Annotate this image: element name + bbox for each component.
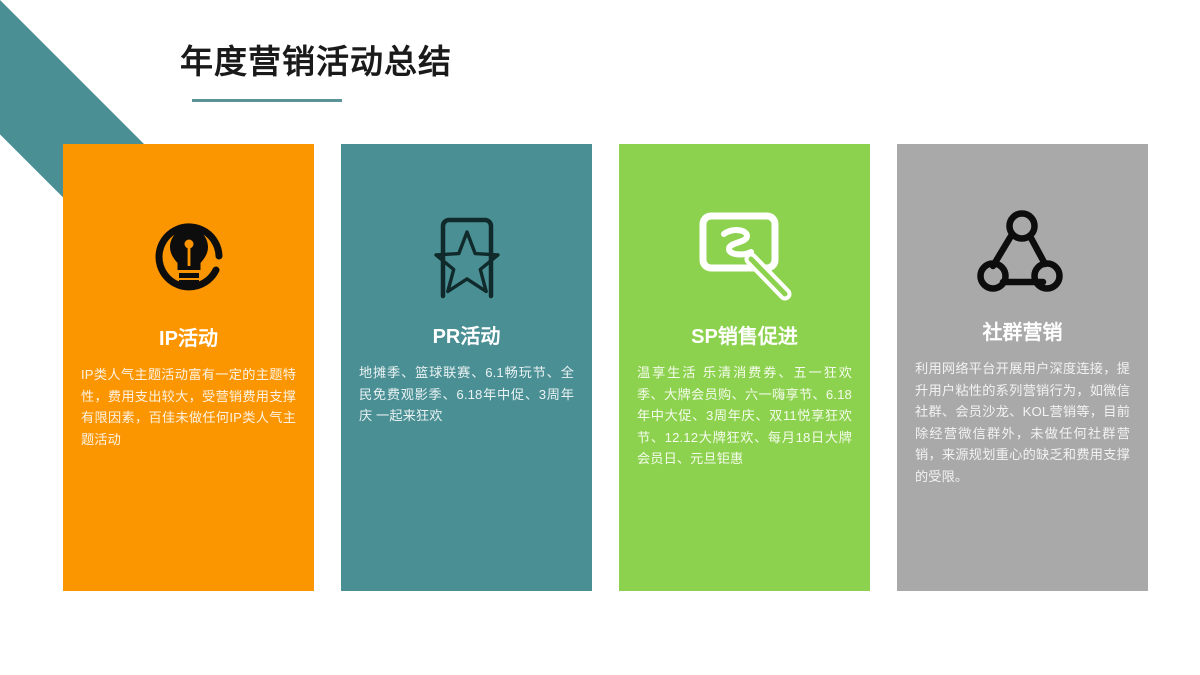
- slide-header: 年度营销活动总结: [180, 40, 880, 102]
- card-body-text: 温享生活 乐清消费券、五一狂欢季、大牌会员购、六一嗨享节、6.18年中大促、3周…: [637, 362, 852, 470]
- screen-signature-stylus-icon: [693, 206, 797, 306]
- card-title: IP活动: [159, 326, 218, 352]
- card-title: SP销售促进: [691, 324, 798, 350]
- lightbulb-in-circle-icon: [141, 206, 237, 306]
- card-title: PR活动: [433, 324, 501, 350]
- card-community-marketing[interactable]: 社群营销 利用网络平台开展用户深度连接，提升用户粘性的系列营销行为，如微信社群、…: [897, 144, 1148, 591]
- card-title: 社群营销: [983, 320, 1063, 346]
- card-ip-activity[interactable]: IP活动 IP类人气主题活动富有一定的主题特性，费用支出较大，受营销费用支撑有限…: [63, 144, 314, 591]
- card-body-text: 利用网络平台开展用户深度连接，提升用户粘性的系列营销行为，如微信社群、会员沙龙、…: [915, 358, 1130, 487]
- network-nodes-icon: [973, 202, 1073, 302]
- card-body-text: IP类人气主题活动富有一定的主题特性，费用支出较大，受营销费用支撑有限因素，百佳…: [81, 364, 296, 450]
- page-title: 年度营销活动总结: [180, 40, 880, 84]
- marketing-activity-cards: IP活动 IP类人气主题活动富有一定的主题特性，费用支出较大，受营销费用支撑有限…: [63, 144, 1148, 591]
- card-sp-sales-promotion[interactable]: SP销售促进 温享生活 乐清消费券、五一狂欢季、大牌会员购、六一嗨享节、6.18…: [619, 144, 870, 591]
- card-body-text: 地摊季、篮球联赛、6.1畅玩节、全民免费观影季、6.18年中促、3周年庆 一起来…: [359, 362, 574, 427]
- title-underline: [192, 99, 342, 102]
- card-pr-activity[interactable]: PR活动 地摊季、篮球联赛、6.1畅玩节、全民免费观影季、6.18年中促、3周年…: [341, 144, 592, 591]
- bookmark-star-icon: [419, 206, 515, 306]
